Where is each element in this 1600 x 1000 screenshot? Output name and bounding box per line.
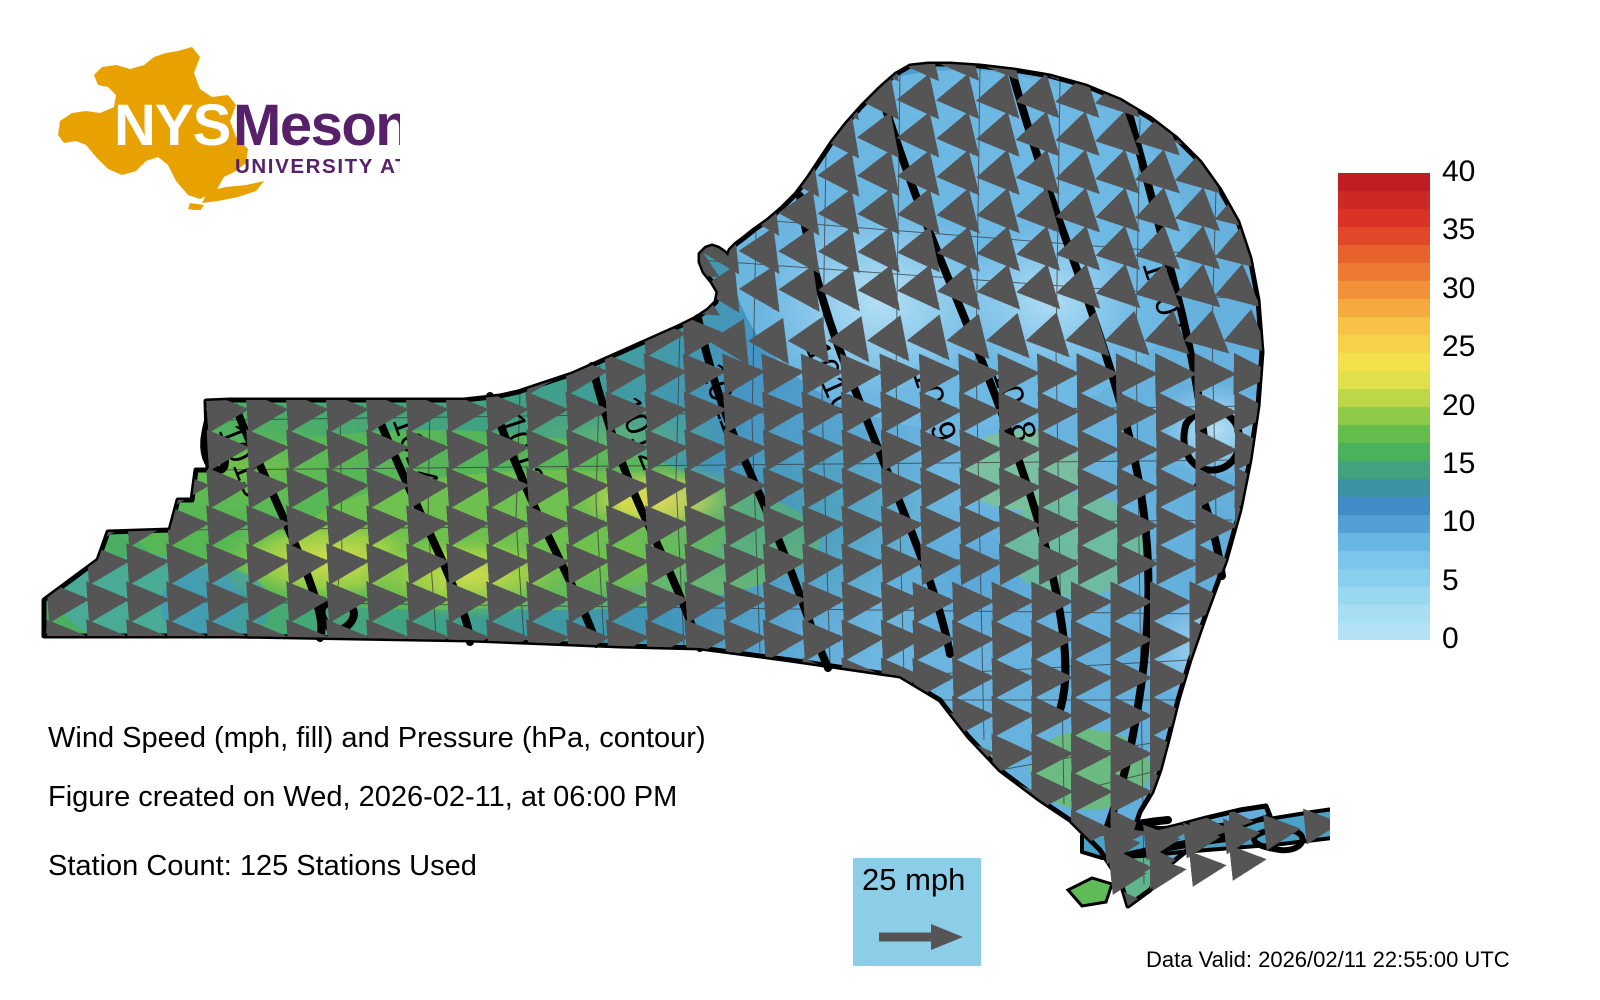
wind-arrow <box>1170 184 1176 190</box>
wind-arrow <box>1010 108 1016 114</box>
wind-arrow <box>570 600 604 602</box>
wind-arrow <box>410 676 444 678</box>
wind-arrow <box>1090 222 1096 228</box>
wind-arrow <box>1160 870 1182 872</box>
wind-arrow <box>90 524 124 526</box>
wind-arrow <box>530 146 554 160</box>
wind-arrow <box>1250 222 1256 227</box>
wind-arrow <box>250 714 284 716</box>
wind-arrow <box>370 108 393 121</box>
wind-arrow <box>690 638 722 640</box>
wind-arrow <box>570 448 604 450</box>
wind-arrow <box>970 791 989 792</box>
wind-arrow <box>970 829 989 830</box>
wind-arrow <box>210 676 244 678</box>
wind-arrow <box>330 108 353 121</box>
wind-arrow <box>1010 298 1017 305</box>
wind-arrow <box>610 828 644 830</box>
wind-arrow <box>730 866 761 868</box>
caption-title: Wind Speed (mph, fill) and Pressure (hPa… <box>48 724 706 753</box>
wind-arrow <box>90 108 113 121</box>
wind-arrow <box>250 448 284 450</box>
wind-arrow <box>210 260 236 275</box>
wind-arrow <box>690 904 722 906</box>
wind-arrow <box>490 298 517 313</box>
wind-arrow <box>170 714 204 716</box>
wind-arrow <box>570 714 604 716</box>
wind-arrow <box>250 600 284 602</box>
wind-arrow <box>50 524 84 526</box>
wind-arrow <box>1110 843 1136 846</box>
wind-arrow <box>90 260 116 275</box>
wind-arrow <box>690 486 722 488</box>
wind-arrow <box>570 260 596 275</box>
wind-arrow <box>850 222 856 230</box>
wind-arrow <box>890 449 918 451</box>
wind-arrow <box>490 222 515 237</box>
wind-arrow <box>1090 146 1096 152</box>
wind-arrow <box>1210 260 1216 266</box>
wind-arrow <box>730 638 761 640</box>
wind-arrow <box>370 184 395 198</box>
wind-arrow <box>250 222 275 237</box>
wind-arrow <box>970 222 976 229</box>
wind-arrow <box>650 108 672 121</box>
wind-arrow <box>890 791 918 793</box>
wind-arrow <box>1050 563 1075 564</box>
wind-arrow <box>1210 70 1216 75</box>
wind-arrow <box>530 334 562 336</box>
wind-arrow <box>890 411 918 412</box>
wind-arrow <box>530 600 564 602</box>
wind-arrow <box>450 184 475 198</box>
wind-arrow <box>770 146 776 155</box>
wind-arrow <box>530 524 564 526</box>
wind-arrow <box>50 108 73 121</box>
wind-arrow <box>810 70 815 78</box>
wind-arrow <box>1010 753 1029 754</box>
wind-arrow <box>1010 70 1015 76</box>
wind-arrow <box>890 563 918 565</box>
wind-arrow <box>170 334 202 336</box>
wind-arrow <box>690 372 721 374</box>
wind-arrow <box>290 108 313 121</box>
colorbar-tick-30: 30 <box>1442 274 1475 304</box>
wind-arrow <box>330 298 357 313</box>
wind-arrow <box>1010 146 1016 153</box>
wind-arrow <box>770 486 801 488</box>
wind-arrow <box>170 298 197 313</box>
wind-arrow <box>490 600 524 602</box>
wind-arrow <box>450 714 484 716</box>
wind-arrow <box>810 524 840 526</box>
wind-arrow <box>970 108 976 115</box>
wind-arrow <box>1050 184 1056 191</box>
wind-arrow <box>810 676 840 678</box>
weather-map[interactable]: 1015 1014 1013 1012 1011 1010 1009 1008 … <box>0 0 1330 960</box>
wind-arrow <box>690 714 722 716</box>
wind-arrow <box>850 600 879 602</box>
wind-arrow <box>530 298 557 313</box>
wind-arrow <box>810 714 840 716</box>
wind-arrow <box>890 146 896 154</box>
wind-arrow <box>410 600 444 602</box>
wind-arrow <box>370 904 404 906</box>
wind-arrow <box>50 410 83 412</box>
wind-arrow <box>170 184 195 198</box>
wind-arrow <box>490 184 515 198</box>
data-valid-stamp: Data Valid: 2026/02/11 22:55:00 UTC <box>1146 948 1510 972</box>
wind-arrow <box>290 334 322 336</box>
wind-arrow <box>650 486 683 488</box>
wind-arrow <box>1250 184 1256 189</box>
wind-arrow <box>170 676 204 678</box>
wind-arrow <box>970 753 989 754</box>
wind-arrow <box>530 184 555 198</box>
wind-arrow <box>370 486 404 488</box>
wind-arrow <box>850 714 879 716</box>
wind-arrow <box>410 222 435 237</box>
wind-arrow <box>210 828 244 830</box>
wind-arrow <box>1130 146 1136 152</box>
wind-arrow <box>50 334 82 336</box>
wind-arrow <box>850 524 879 526</box>
wind-arrow <box>770 790 801 792</box>
wind-arrow <box>250 184 275 198</box>
wind-arrow <box>970 601 989 602</box>
wind-arrow <box>570 222 595 237</box>
wind-arrow <box>610 70 632 83</box>
wind-arrow <box>690 866 722 868</box>
wind-arrow <box>890 222 896 230</box>
wind-arrow <box>690 676 722 678</box>
wind-arrow <box>90 600 124 602</box>
wind-arrow <box>370 524 404 526</box>
wind-arrow <box>130 260 156 275</box>
wind-arrow <box>1170 298 1176 304</box>
wind-arrow <box>1010 411 1035 412</box>
wind-arrow <box>90 904 124 906</box>
wind-arrow <box>770 524 801 526</box>
wind-arrow <box>130 486 164 488</box>
wind-arrow <box>1010 677 1029 678</box>
wind-arrow <box>890 108 896 115</box>
wind-arrow <box>1050 108 1056 114</box>
wind-arrow <box>250 372 282 374</box>
wind-arrow <box>730 904 761 906</box>
wind-arrow <box>1120 874 1142 876</box>
wind-arrow <box>170 904 204 906</box>
wind-arrow <box>450 410 483 412</box>
wind-arrow <box>530 828 564 830</box>
wind-arrow <box>410 562 444 564</box>
wind-arrow <box>1200 866 1222 868</box>
wind-arrow <box>530 904 564 906</box>
wind-arrow <box>50 70 72 83</box>
wind-arrow <box>770 714 801 716</box>
wind-arrow <box>290 486 324 488</box>
wind-arrow <box>930 373 956 374</box>
wind-arrow <box>970 70 976 77</box>
wind-arrow <box>570 108 593 121</box>
wind-arrow <box>570 410 603 412</box>
wind-arrow <box>210 70 232 83</box>
wind-arrow <box>930 563 957 564</box>
wind-arrow <box>1130 260 1136 266</box>
wind-arrow <box>250 486 284 488</box>
wind-arrow <box>490 448 524 450</box>
wind-arrow <box>850 372 878 374</box>
wind-arrow <box>850 146 856 154</box>
wind-arrow <box>850 184 856 192</box>
wind-arrow <box>290 562 324 564</box>
wind-arrow <box>90 372 122 374</box>
wind-arrow <box>330 486 364 488</box>
wind-arrow <box>330 146 354 160</box>
wind-arrow <box>1010 563 1036 564</box>
wind-arrow <box>610 714 644 716</box>
wind-arrow <box>690 524 722 526</box>
wind-arrow <box>770 638 801 640</box>
wind-arrow <box>570 486 604 488</box>
wind-arrow <box>810 410 839 412</box>
wind-arrow <box>330 222 355 237</box>
wind-arrow <box>650 410 682 412</box>
wind-arrow <box>1240 860 1262 862</box>
wind-arrow <box>970 563 997 564</box>
wind-arrow <box>850 828 879 830</box>
wind-arrow <box>250 562 284 564</box>
wind-arrow <box>890 829 918 831</box>
wind-arrow <box>890 601 918 603</box>
wind-arrow <box>1090 108 1096 114</box>
wind-arrow <box>1010 260 1016 267</box>
wind-arrow <box>50 260 76 275</box>
wind-arrow <box>530 676 564 678</box>
wind-arrow <box>1050 487 1075 488</box>
wind-arrow <box>530 70 552 83</box>
wind-arrow <box>770 828 801 830</box>
wind-arrow <box>410 714 444 716</box>
wind-arrow <box>610 260 636 275</box>
wind-arrow <box>370 562 404 564</box>
wind-arrow <box>650 904 683 906</box>
wind-arrow <box>1170 260 1176 266</box>
wind-arrow <box>650 638 683 640</box>
wind-arrow <box>770 448 801 450</box>
wind-arrow <box>130 108 153 121</box>
wind-arrow <box>490 334 522 336</box>
wind-arrow <box>690 562 722 564</box>
wind-arrow <box>210 714 244 716</box>
wind-arrow <box>1010 905 1029 906</box>
wind-arrow <box>370 714 404 716</box>
wind-arrow <box>330 372 362 374</box>
wind-arrow <box>530 866 564 868</box>
wind-arrow <box>1150 839 1176 842</box>
wind-arrow <box>330 600 364 602</box>
wind-arrow <box>450 676 484 678</box>
wind-arrow <box>330 260 356 275</box>
wind-arrow <box>90 714 124 716</box>
wind-arrow <box>650 372 681 374</box>
wind-arrow <box>730 184 736 193</box>
wind-arrow <box>610 222 635 237</box>
wind-arrow <box>850 448 879 450</box>
wind-arrow <box>970 373 995 374</box>
wind-arrow <box>210 486 244 488</box>
wind-arrow <box>210 184 235 198</box>
wind-arrow <box>730 828 761 830</box>
wind-arrow <box>810 372 838 374</box>
wind-arrow <box>930 829 950 830</box>
wind-arrow <box>1170 222 1176 228</box>
wind-arrow <box>130 70 152 83</box>
wind-arrow <box>530 486 564 488</box>
wind-arrow <box>370 600 404 602</box>
wind-arrow <box>290 222 315 237</box>
wind-arrow <box>90 828 124 830</box>
wind-arrow <box>570 70 592 83</box>
wind-arrow <box>450 372 482 374</box>
wind-arrow <box>890 487 918 489</box>
wind-arrow <box>650 70 672 83</box>
wind-arrow <box>450 260 476 275</box>
wind-arrow <box>1010 487 1036 488</box>
wind-arrow <box>650 714 683 716</box>
wind-arrow <box>490 714 524 716</box>
wind-arrow <box>930 70 936 77</box>
wind-arrow <box>570 676 604 678</box>
wind-arrow <box>890 373 917 374</box>
wind-arrow <box>490 260 516 275</box>
wind-arrow <box>410 334 442 336</box>
wind-arrow <box>490 524 524 526</box>
wind-arrow <box>970 298 977 306</box>
wind-arrow <box>1170 108 1176 114</box>
wind-arrow <box>1190 837 1216 840</box>
wind-arrow <box>1170 70 1176 76</box>
wind-arrow <box>570 828 604 830</box>
wind-arrow <box>1090 184 1096 190</box>
wind-arrow <box>170 222 195 237</box>
wind-arrow <box>50 600 84 602</box>
wind-arrow <box>1050 449 1075 450</box>
wind-arrow <box>890 525 918 527</box>
wind-arrow <box>450 222 475 237</box>
map-svg[interactable]: 1015 1014 1013 1012 1011 1010 1009 1008 … <box>0 0 1330 960</box>
wind-arrow <box>850 410 878 412</box>
wind-arrow <box>730 410 761 412</box>
wind-arrow <box>210 448 244 450</box>
wind-arrow <box>1210 222 1216 227</box>
wind-arrow <box>930 449 957 450</box>
wind-arrow <box>490 638 524 640</box>
wind-arrow <box>90 448 124 450</box>
wind-arrow <box>1130 222 1136 228</box>
wind-arrow <box>570 334 602 336</box>
wind-arrow <box>730 524 761 526</box>
wind-arrow <box>330 904 364 906</box>
wind-arrow <box>850 676 879 678</box>
wind-arrow <box>170 70 192 83</box>
wind-arrow <box>1170 146 1176 152</box>
wind-arrow <box>930 601 950 602</box>
wind-arrow <box>50 828 84 830</box>
wind-arrow <box>570 638 604 640</box>
wind-arrow <box>410 828 444 830</box>
wind-arrow <box>330 448 364 450</box>
wind-arrow <box>770 108 776 116</box>
wind-arrow <box>570 298 597 313</box>
wind-arrow <box>290 146 314 160</box>
wind-arrow <box>370 410 403 412</box>
wind-arrow <box>210 410 243 412</box>
wind-arrow <box>1130 184 1136 190</box>
wind-arrow <box>290 448 324 450</box>
wind-arrow <box>290 714 324 716</box>
wind-arrow <box>250 676 284 678</box>
wind-arrow <box>610 866 644 868</box>
wind-arrow <box>1050 146 1056 152</box>
wind-arrow <box>690 222 714 236</box>
wind-arrow <box>50 904 84 906</box>
wind-arrow <box>610 486 644 488</box>
wind-arrow <box>1130 298 1136 304</box>
wind-arrow <box>210 222 235 237</box>
wind-arrow <box>210 298 237 313</box>
wind-arrow <box>410 108 433 121</box>
wind-arrow <box>410 410 443 412</box>
wind-arrow <box>1270 829 1296 832</box>
wind-arrow <box>370 222 395 237</box>
wind-arrow <box>250 410 283 412</box>
wind-arrow <box>850 752 879 754</box>
wind-arrow <box>90 676 124 678</box>
wind-arrow <box>450 334 482 336</box>
wind-arrow <box>210 524 244 526</box>
wind-arrow <box>1310 823 1330 826</box>
wind-arrow <box>650 448 683 450</box>
wind-arrow <box>410 448 444 450</box>
wind-arrow <box>330 334 362 336</box>
wind-arrow <box>570 904 604 906</box>
wind-arrow <box>450 904 484 906</box>
wind-arrow <box>970 525 997 526</box>
wind-arrow <box>1250 146 1256 151</box>
wind-arrow <box>850 486 879 488</box>
wind-arrow <box>290 828 324 830</box>
wind-arrow <box>330 524 364 526</box>
wind-arrow <box>490 372 522 374</box>
wind-vector-key: 25 mph <box>853 858 981 966</box>
wind-arrow <box>1090 260 1096 267</box>
wind-arrow <box>770 372 799 374</box>
wind-arrow <box>450 562 484 564</box>
wind-arrow <box>450 638 484 640</box>
wind-arrow <box>490 562 524 564</box>
wind-arrow <box>410 184 435 198</box>
wind-arrow <box>930 677 950 678</box>
wind-arrow <box>690 108 712 121</box>
wind-arrow <box>970 146 976 153</box>
wind-arrow <box>130 714 164 716</box>
wind-arrow <box>570 146 594 160</box>
wind-arrow <box>1210 184 1216 189</box>
wind-arrow <box>1010 715 1029 716</box>
caption-created: Figure created on Wed, 2026-02-11, at 06… <box>48 783 677 812</box>
wind-arrow <box>730 714 761 716</box>
